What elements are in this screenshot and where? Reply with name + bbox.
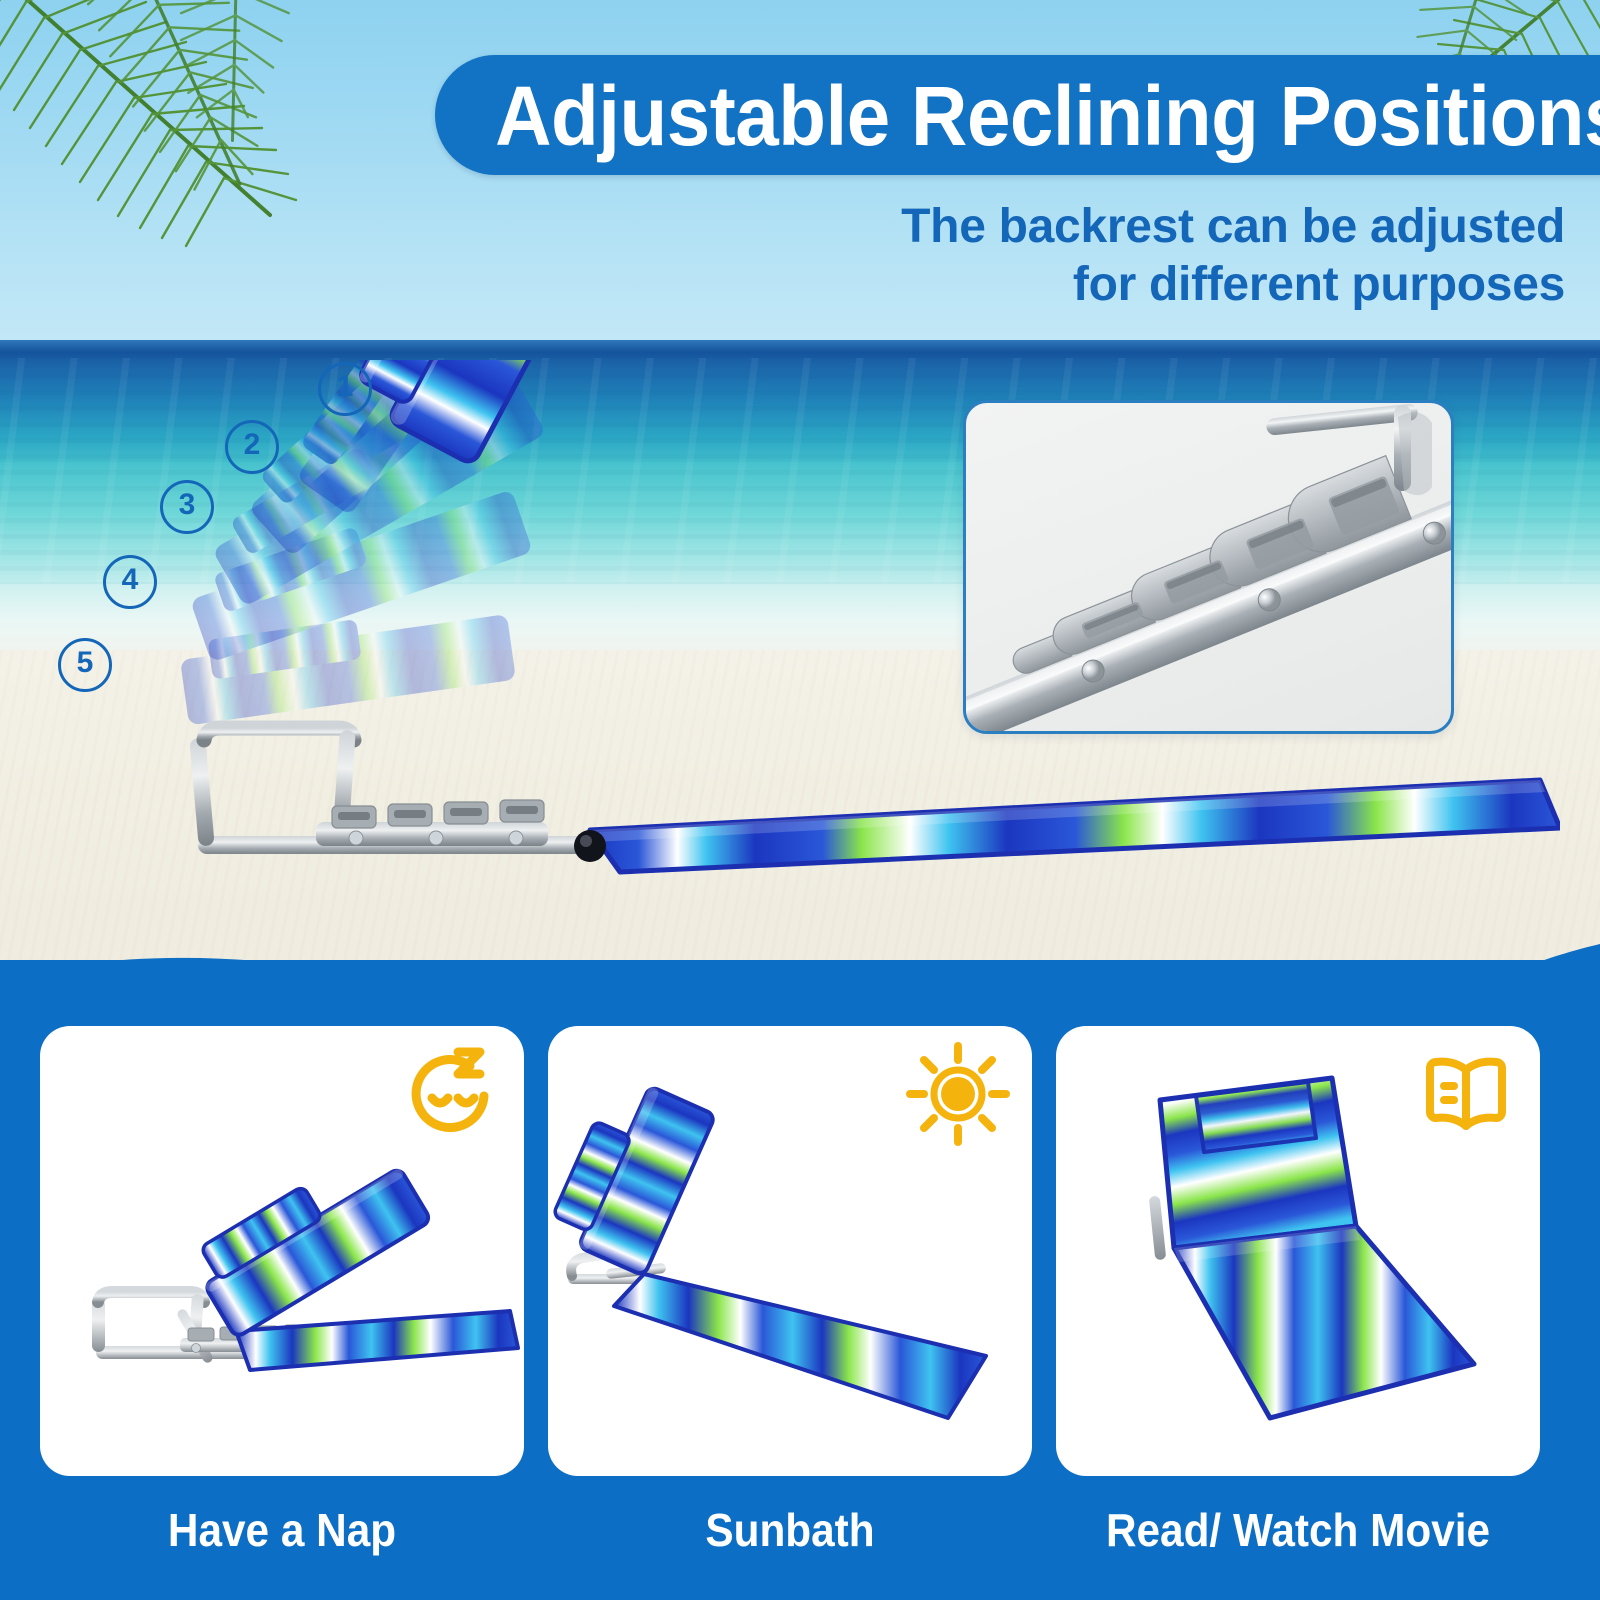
base-ratchet-rail xyxy=(316,800,548,846)
position-marker-3: 3 xyxy=(160,480,214,534)
beach-lounger-main-illustration xyxy=(120,360,1560,900)
position-marker-2: 2 xyxy=(225,420,279,474)
use-case-card-read[interactable] xyxy=(1056,1026,1540,1476)
position-marker-5: 5 xyxy=(58,638,112,692)
subtitle: The backrest can be adjusted for differe… xyxy=(665,198,1565,314)
position-marker-4: 4 xyxy=(103,555,157,609)
caption-read: Read/ Watch Movie xyxy=(1057,1494,1539,1566)
use-case-captions: Have a Nap Sunbath Read/ Watch Movie xyxy=(0,1494,1600,1574)
use-case-card-nap[interactable] xyxy=(40,1026,524,1476)
caption-sunbath: Sunbath xyxy=(567,1494,1012,1566)
use-case-cards xyxy=(0,1026,1600,1476)
use-case-card-sunbath[interactable] xyxy=(548,1026,1032,1476)
product-infographic: 1 2 3 4 5 Adjustable Reclining Positions… xyxy=(0,0,1600,1600)
sleeping-face-icon xyxy=(398,1042,502,1146)
page-title: Adjustable Reclining Positions xyxy=(495,62,1560,170)
subtitle-line-1: The backrest can be adjusted xyxy=(665,198,1565,256)
open-book-icon xyxy=(1414,1042,1518,1146)
beach-scene: 1 2 3 4 5 Adjustable Reclining Positions… xyxy=(0,0,1600,1010)
position-marker-1: 1 xyxy=(318,362,372,416)
caption-nap: Have a Nap xyxy=(59,1494,504,1566)
lounger-mat xyxy=(590,780,1560,872)
subtitle-line-2: for different purposes xyxy=(665,256,1565,314)
sun-icon xyxy=(906,1042,1010,1146)
